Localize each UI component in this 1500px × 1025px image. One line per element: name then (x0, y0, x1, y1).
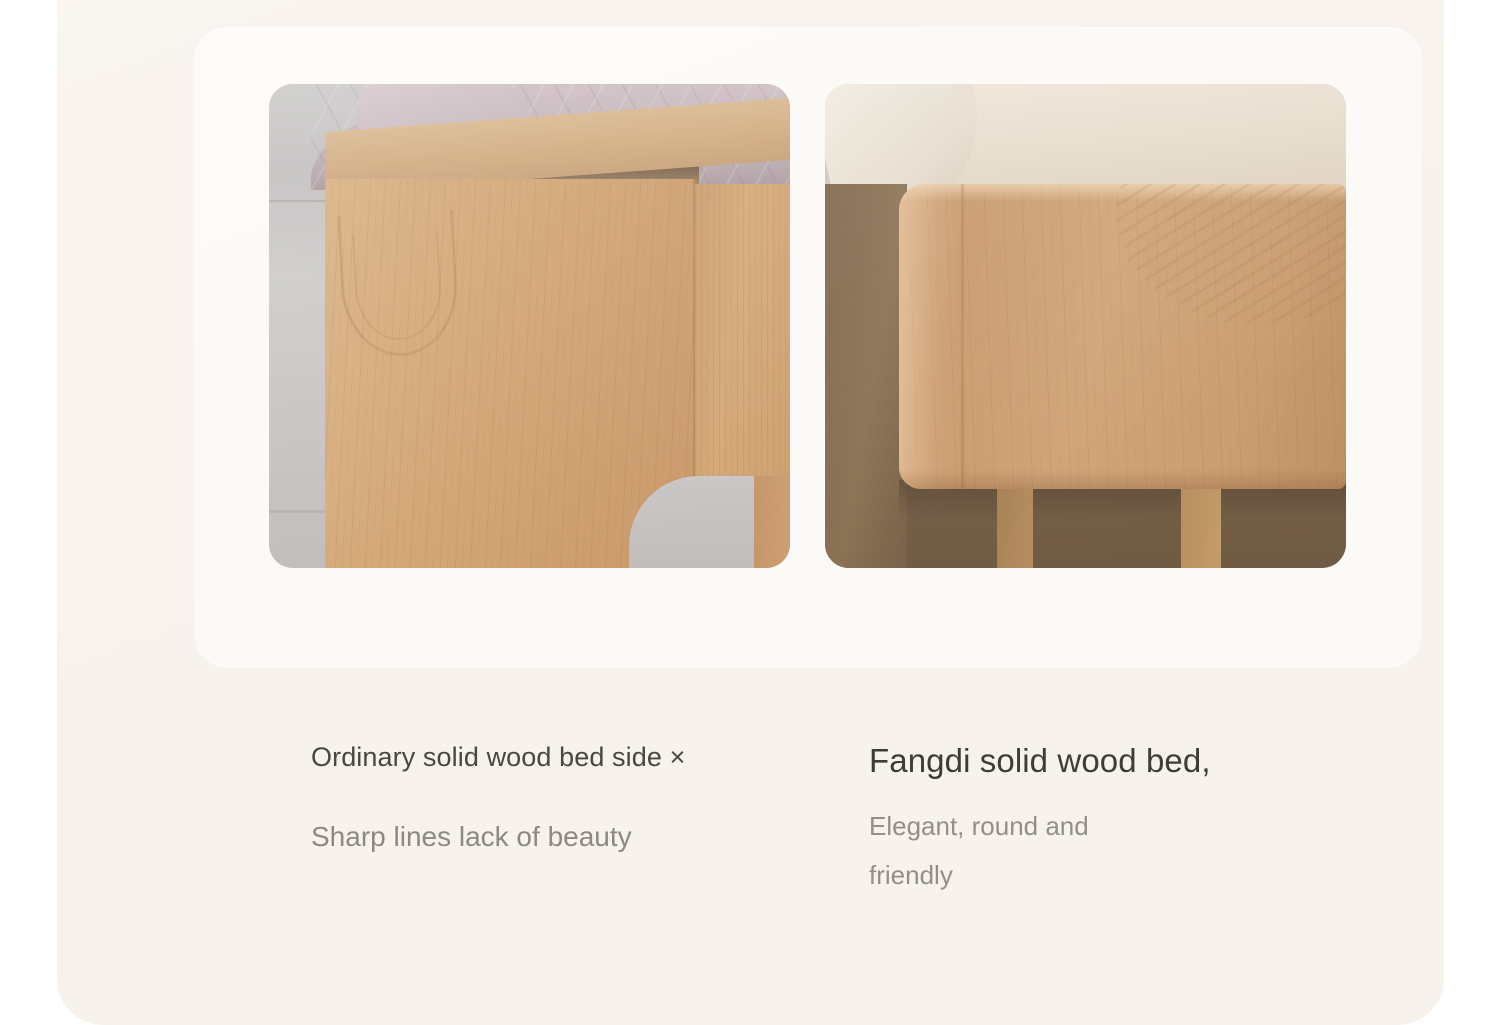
bed-side-return (695, 184, 790, 494)
headboard-side-panel (825, 184, 907, 568)
rail-joint-seam (961, 184, 964, 489)
fangdi-bed-subtitle: Elegant, round and friendly (869, 802, 1169, 900)
fangdi-bed-photo[interactable] (825, 84, 1346, 568)
bed-leg-rear (997, 486, 1033, 568)
ordinary-bed-photo[interactable] (269, 84, 790, 568)
bed-leg-front (1181, 486, 1221, 568)
ordinary-bed-title: Ordinary solid wood bed side × (311, 740, 811, 774)
rounded-corner-highlight (899, 184, 961, 489)
ordinary-bed-subtitle: Sharp lines lack of beauty (311, 820, 811, 854)
bed-leg (754, 476, 790, 568)
photo-row (269, 84, 1357, 568)
fangdi-bed-title: Fangdi solid wood bed, (869, 740, 1339, 781)
page-panel: Ordinary solid wood bed side × Sharp lin… (57, 0, 1444, 1025)
bed-corner-comparison-card (194, 27, 1422, 668)
ordinary-bed-caption: Ordinary solid wood bed side × Sharp lin… (311, 740, 811, 854)
fangdi-bed-caption: Fangdi solid wood bed, Elegant, round an… (869, 740, 1339, 900)
rail-bottom-bevel (899, 469, 1346, 489)
wood-grain-sweep (1106, 184, 1346, 338)
comparison-captions: Ordinary solid wood bed side × Sharp lin… (57, 740, 1444, 940)
bed-side-rail-rounded (899, 184, 1346, 489)
